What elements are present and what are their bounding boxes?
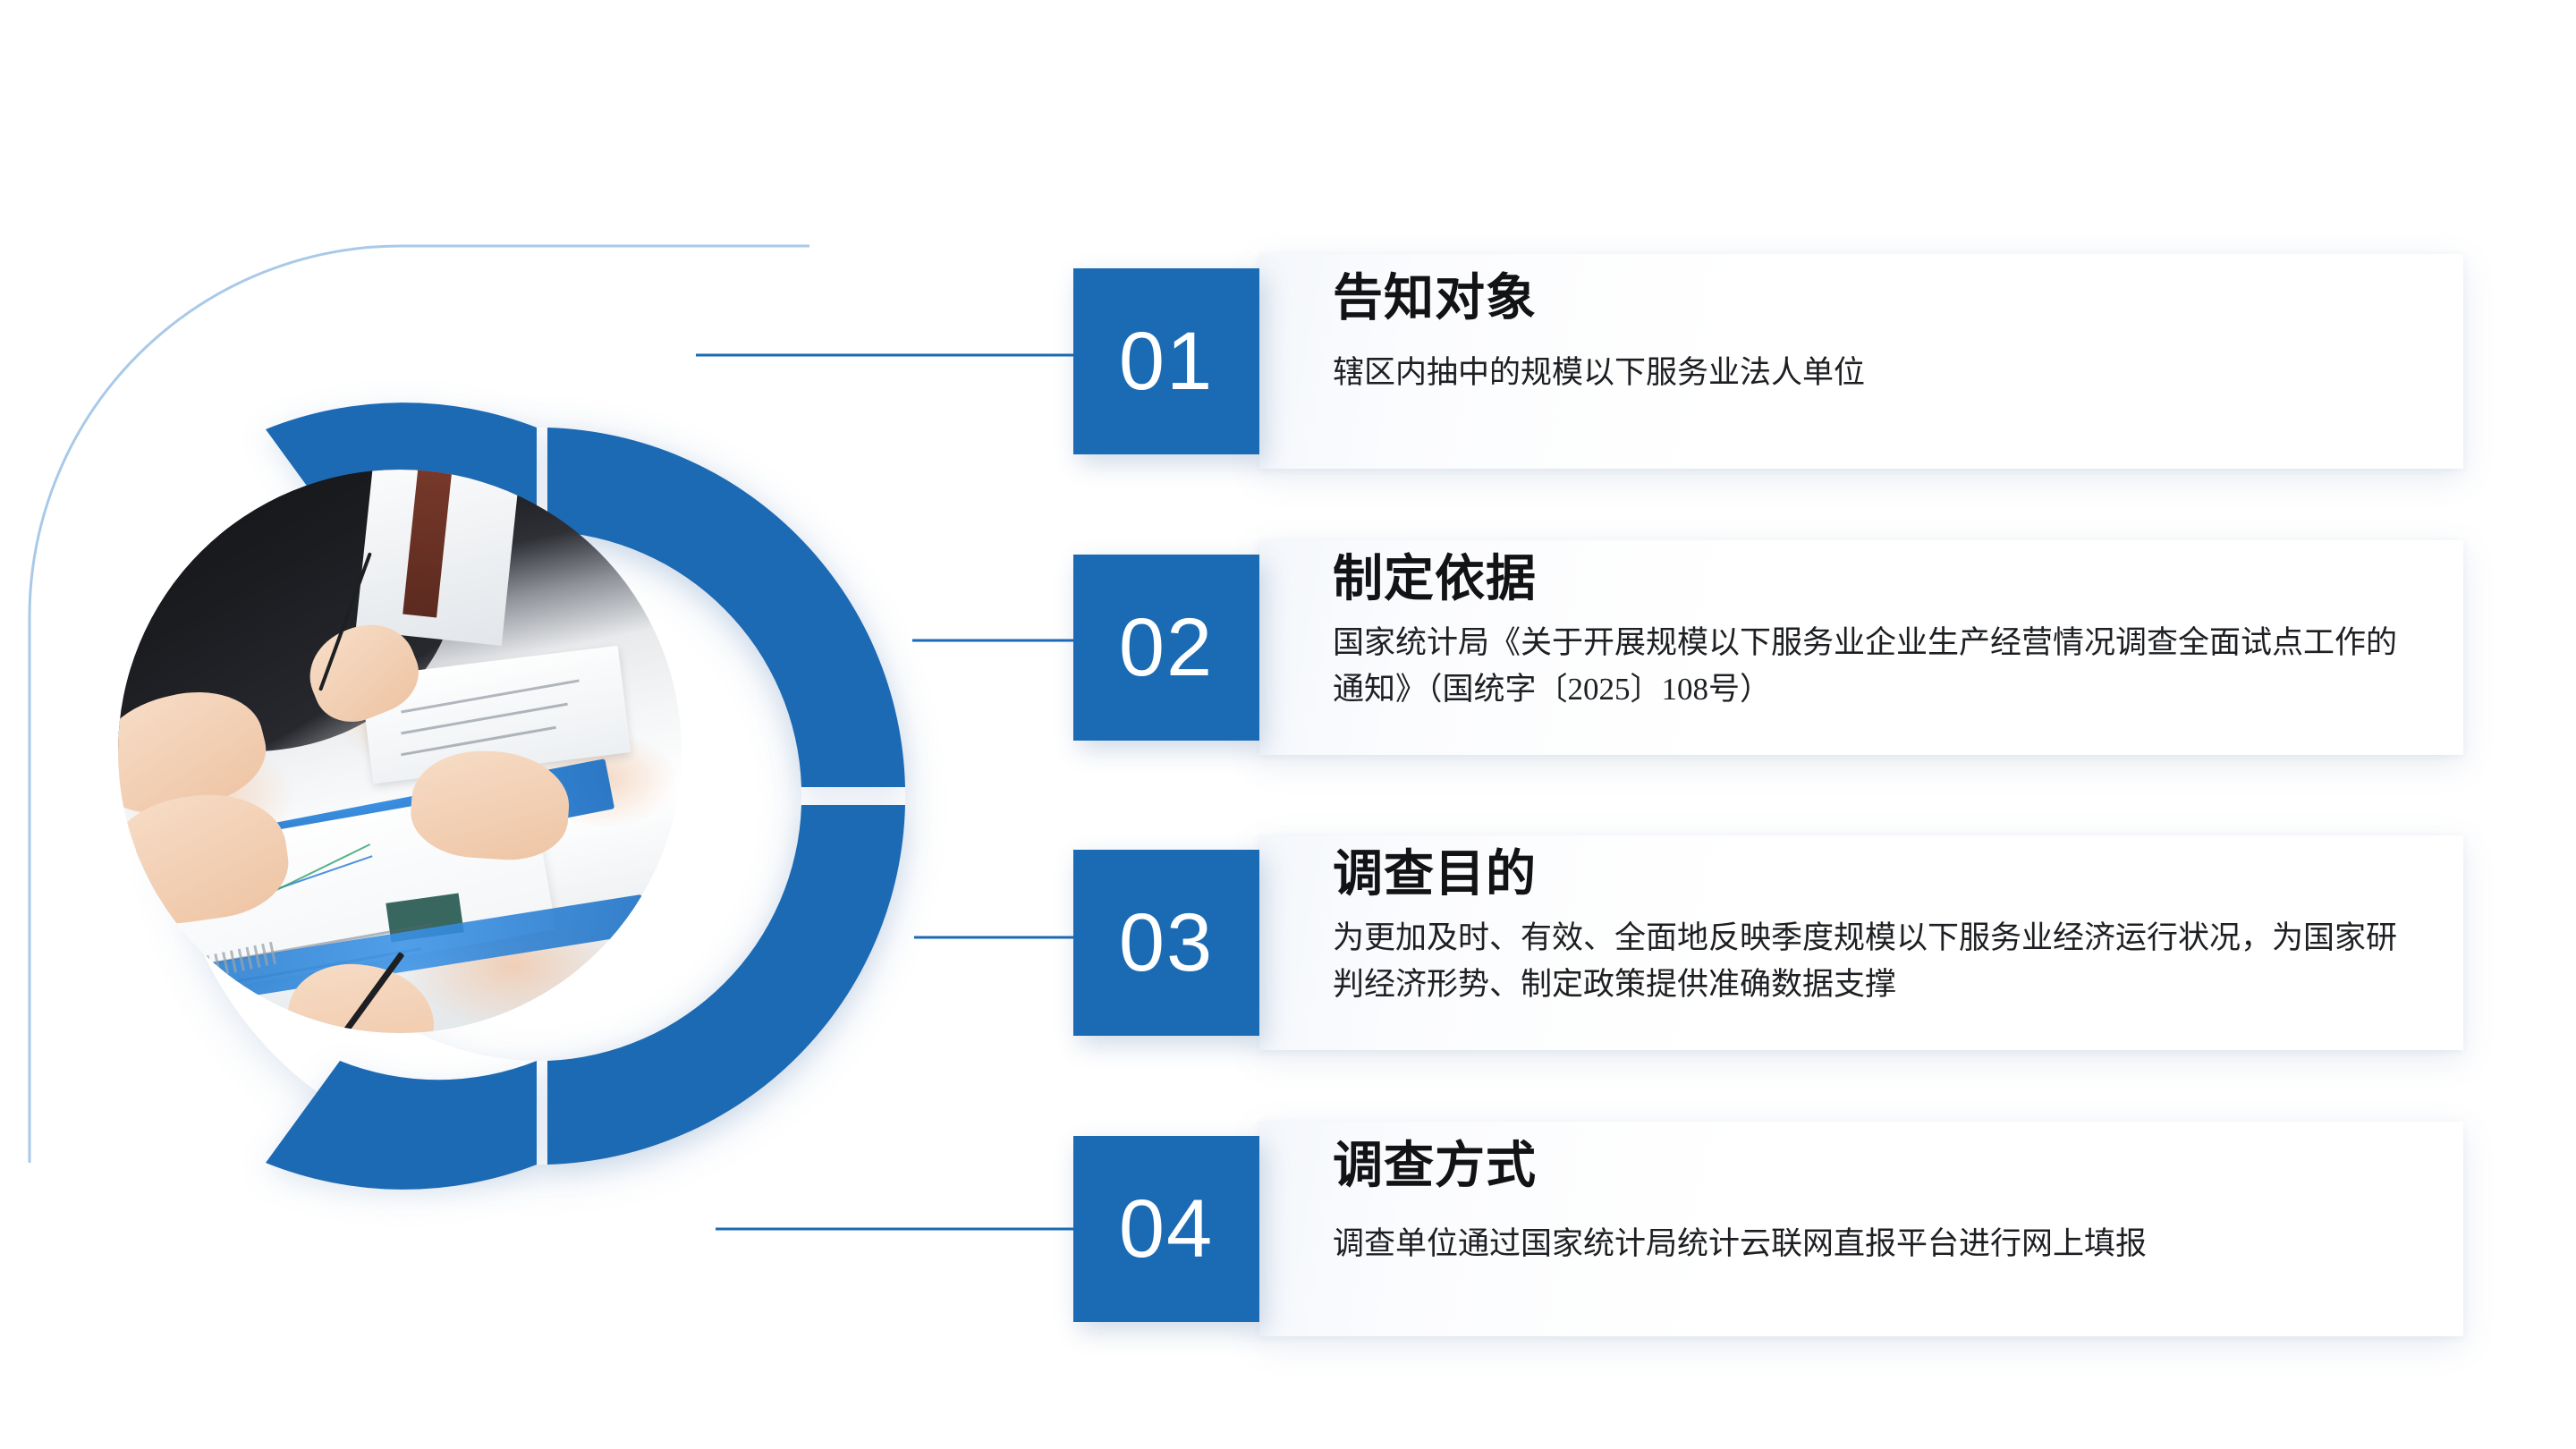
row-content: 调查目的 为更加及时、有效、全面地反映季度规模以下服务业经济运行状况，为国家研判… <box>1333 846 2433 1009</box>
row-number-label: 03 <box>1119 902 1214 984</box>
list-item[interactable]: 03 调查目的 为更加及时、有效、全面地反映季度规模以下服务业经济运行状况，为国… <box>1073 850 2463 1036</box>
row-number-block: 01 <box>1073 268 1259 454</box>
row-content: 制定依据 国家统计局《关于开展规模以下服务业企业生产经营情况调查全面试点工作的通… <box>1333 551 2433 714</box>
row-content: 调查方式 调查单位通过国家统计局统计云联网直报平台进行网上填报 <box>1333 1138 2433 1267</box>
row-description: 调查单位通过国家统计局统计云联网直报平台进行网上填报 <box>1333 1221 2415 1268</box>
row-number-block: 02 <box>1073 555 1259 741</box>
row-number-label: 01 <box>1119 320 1214 402</box>
row-title: 告知对象 <box>1333 270 2433 326</box>
row-title: 调查目的 <box>1333 846 2433 902</box>
row-title: 制定依据 <box>1333 551 2433 607</box>
row-description: 辖区内抽中的规模以下服务业法人单位 <box>1333 350 2415 397</box>
row-description: 国家统计局《关于开展规模以下服务业企业生产经营情况调查全面试点工作的通知》（国统… <box>1333 620 2415 714</box>
list-item[interactable]: 01 告知对象 辖区内抽中的规模以下服务业法人单位 <box>1073 268 2463 454</box>
numbered-rows-list: 01 告知对象 辖区内抽中的规模以下服务业法人单位 02 制定依据 国家统计局《… <box>0 0 2576 1449</box>
row-number-block: 03 <box>1073 850 1259 1036</box>
row-content: 告知对象 辖区内抽中的规模以下服务业法人单位 <box>1333 270 2433 396</box>
row-description: 为更加及时、有效、全面地反映季度规模以下服务业经济运行状况，为国家研判经济形势、… <box>1333 915 2415 1009</box>
row-number-block: 04 <box>1073 1136 1259 1322</box>
list-item[interactable]: 04 调查方式 调查单位通过国家统计局统计云联网直报平台进行网上填报 <box>1073 1136 2463 1322</box>
row-title: 调查方式 <box>1333 1138 2433 1194</box>
row-number-label: 04 <box>1119 1188 1214 1270</box>
row-number-label: 02 <box>1119 606 1214 689</box>
list-item[interactable]: 02 制定依据 国家统计局《关于开展规模以下服务业企业生产经营情况调查全面试点工… <box>1073 555 2463 741</box>
